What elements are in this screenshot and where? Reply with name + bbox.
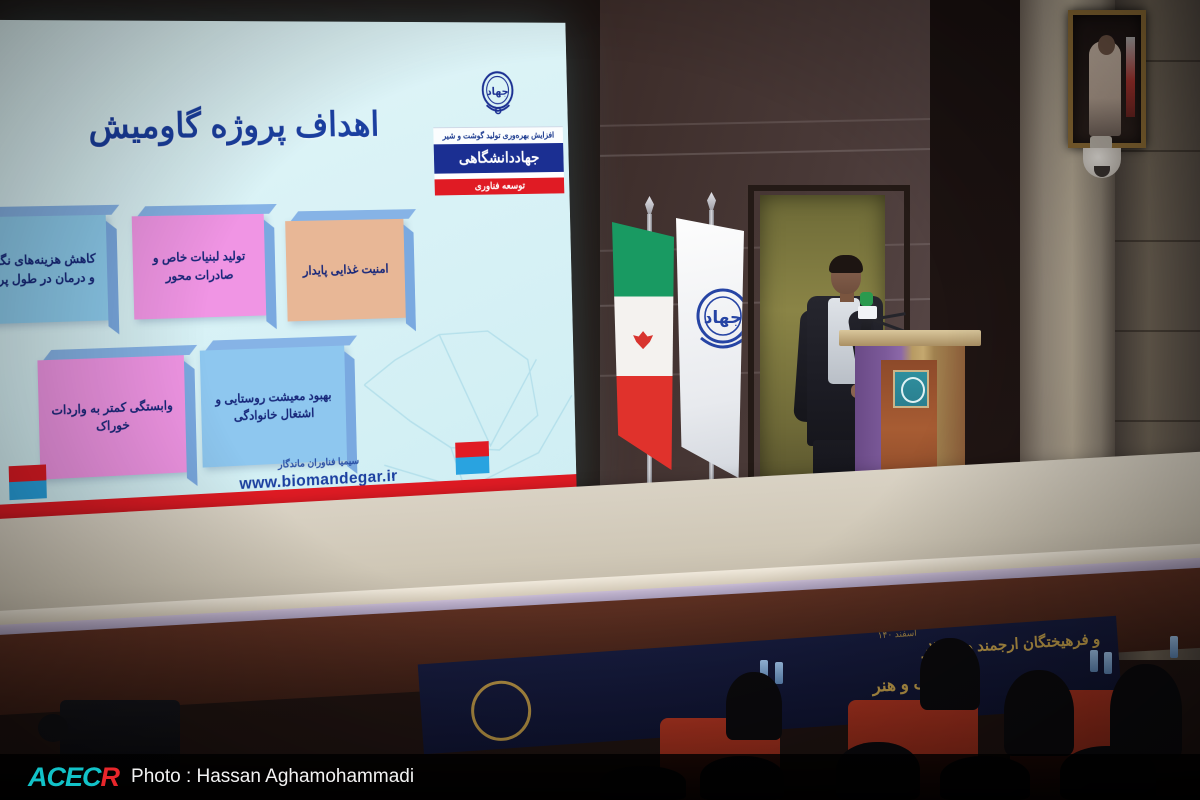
jahad-gold-emblem [469,679,533,743]
goal-box-4: وابستگی کمتر به واردات خوراک [37,355,186,479]
slide-canvas: اهداف پروژه گاومیش جهاد افزایش بهره‌وری … [0,20,577,545]
iran-flag-emblem [633,331,653,349]
acecr-logo: ACECR [28,764,119,791]
goal-box-3: امنیت غذایی پایدار [285,219,406,322]
podium-lectern-top [839,330,981,346]
water-bottle [775,662,783,684]
acecr-logo-r: R [101,762,120,792]
iran-flag [612,222,674,470]
audience-member [726,672,782,740]
jahad-daneshgahi-flag: جهاد [676,218,744,478]
goal-box-3-label: امنیت غذایی پایدار [303,260,389,280]
acecr-logo-acec: ACEC [28,762,101,792]
slide-header-block: جهاد افزایش بهره‌وری تولید گوشت و شیر جه… [432,69,564,195]
svg-text:جهاد: جهاد [704,308,743,328]
portrait-figure [1089,41,1121,136]
goal-box-1: کاهش هزینه‌های نگهداری و درمان در طول پر… [0,215,108,325]
audience-member [1110,664,1182,760]
jahad-daneshgahi-logo: جهاد [477,69,518,118]
header-line-jahad: جهاددانشگاهی [434,143,564,174]
goal-box-4-label: وابستگی کمتر به واردات خوراک [47,396,177,437]
audience-member [920,638,980,710]
watermark-bar: ACECR Photo : Hassan Aghamohammadi [0,754,1200,800]
projection-screen: اهداف پروژه گاومیش جهاد افزایش بهره‌وری … [0,20,577,545]
photo-credit: Photo : Hassan Aghamohammadi [131,766,414,788]
screenshot-root: اهداف پروژه گاومیش جهاد افزایش بهره‌وری … [0,0,1200,800]
audience-member [1004,670,1074,756]
footer-mark-right [455,441,489,475]
microphone-windscreen [860,292,873,306]
slide-title: اهداف پروژه گاومیش [45,106,420,148]
framed-portrait [1068,10,1146,148]
svg-text:جهاد: جهاد [487,85,509,97]
speaker-hair [829,255,863,273]
footer-mark-left [9,464,47,500]
water-bottle [1090,650,1098,672]
goal-box-5: بهبود معیشت روستایی و اشتغال خانوادگی [200,346,347,468]
header-line-productivity: افزایش بهره‌وری تولید گوشت و شیر [433,126,563,144]
goal-box-5-label: بهبود معیشت روستایی و اشتغال خانوادگی [209,386,338,426]
header-line-technology: توسعه فناوری [435,177,565,195]
podium-emblem-plaque [893,370,929,408]
goal-box-2-label: تولید لبنیات خاص و صادرات محور [141,247,257,285]
water-bottle [1104,652,1112,674]
microphone-logo-flag [858,306,877,319]
goal-box-1-label: کاهش هزینه‌های نگهداری و درمان در طول پر… [0,250,99,289]
jahad-flag-logo: جهاد [691,286,744,356]
portrait-head [1098,35,1115,55]
goal-box-2: تولید لبنیات خاص و صادرات محور [132,214,267,320]
water-bottle [1170,636,1178,658]
portrait-flag [1126,37,1135,117]
